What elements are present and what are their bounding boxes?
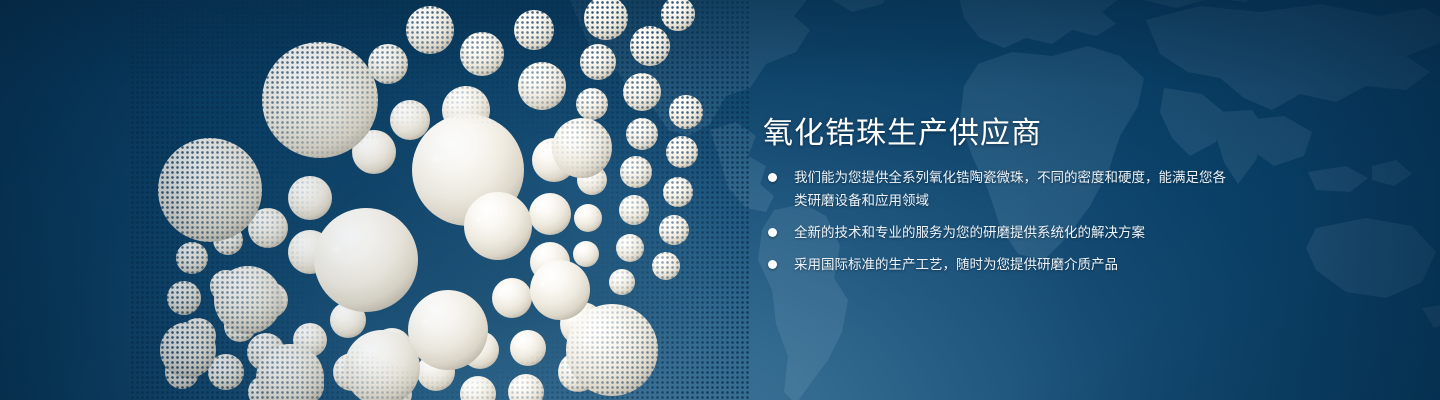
banner-content: 氧化锆珠生产供应商 我们能为您提供全系列氧化锆陶瓷微珠，不同的密度和硬度，能满足… — [763, 0, 1323, 400]
banner-headline: 氧化锆珠生产供应商 — [763, 108, 1042, 152]
list-item: 全新的技术和专业的服务为您的研磨提供系统化的解决方案 — [766, 221, 1236, 244]
bullet-dot-icon — [768, 228, 777, 237]
hero-banner: 氧化锆珠生产供应商 我们能为您提供全系列氧化锆陶瓷微珠，不同的密度和硬度，能满足… — [0, 0, 1440, 400]
bullet-dot-icon — [768, 260, 777, 269]
bullet-dot-icon — [768, 173, 777, 182]
list-item-label: 我们能为您提供全系列氧化锆陶瓷微珠，不同的密度和硬度，能满足您各类研磨设备和应用… — [794, 170, 1226, 208]
list-item-label: 全新的技术和专业的服务为您的研磨提供系统化的解决方案 — [794, 225, 1145, 240]
list-item: 采用国际标准的生产工艺，随时为您提供研磨介质产品 — [766, 253, 1236, 276]
banner-feature-list: 我们能为您提供全系列氧化锆陶瓷微珠，不同的密度和硬度，能满足您各类研磨设备和应用… — [766, 166, 1236, 276]
list-item: 我们能为您提供全系列氧化锆陶瓷微珠，不同的密度和硬度，能满足您各类研磨设备和应用… — [766, 166, 1236, 212]
list-item-label: 采用国际标准的生产工艺，随时为您提供研磨介质产品 — [794, 257, 1118, 272]
